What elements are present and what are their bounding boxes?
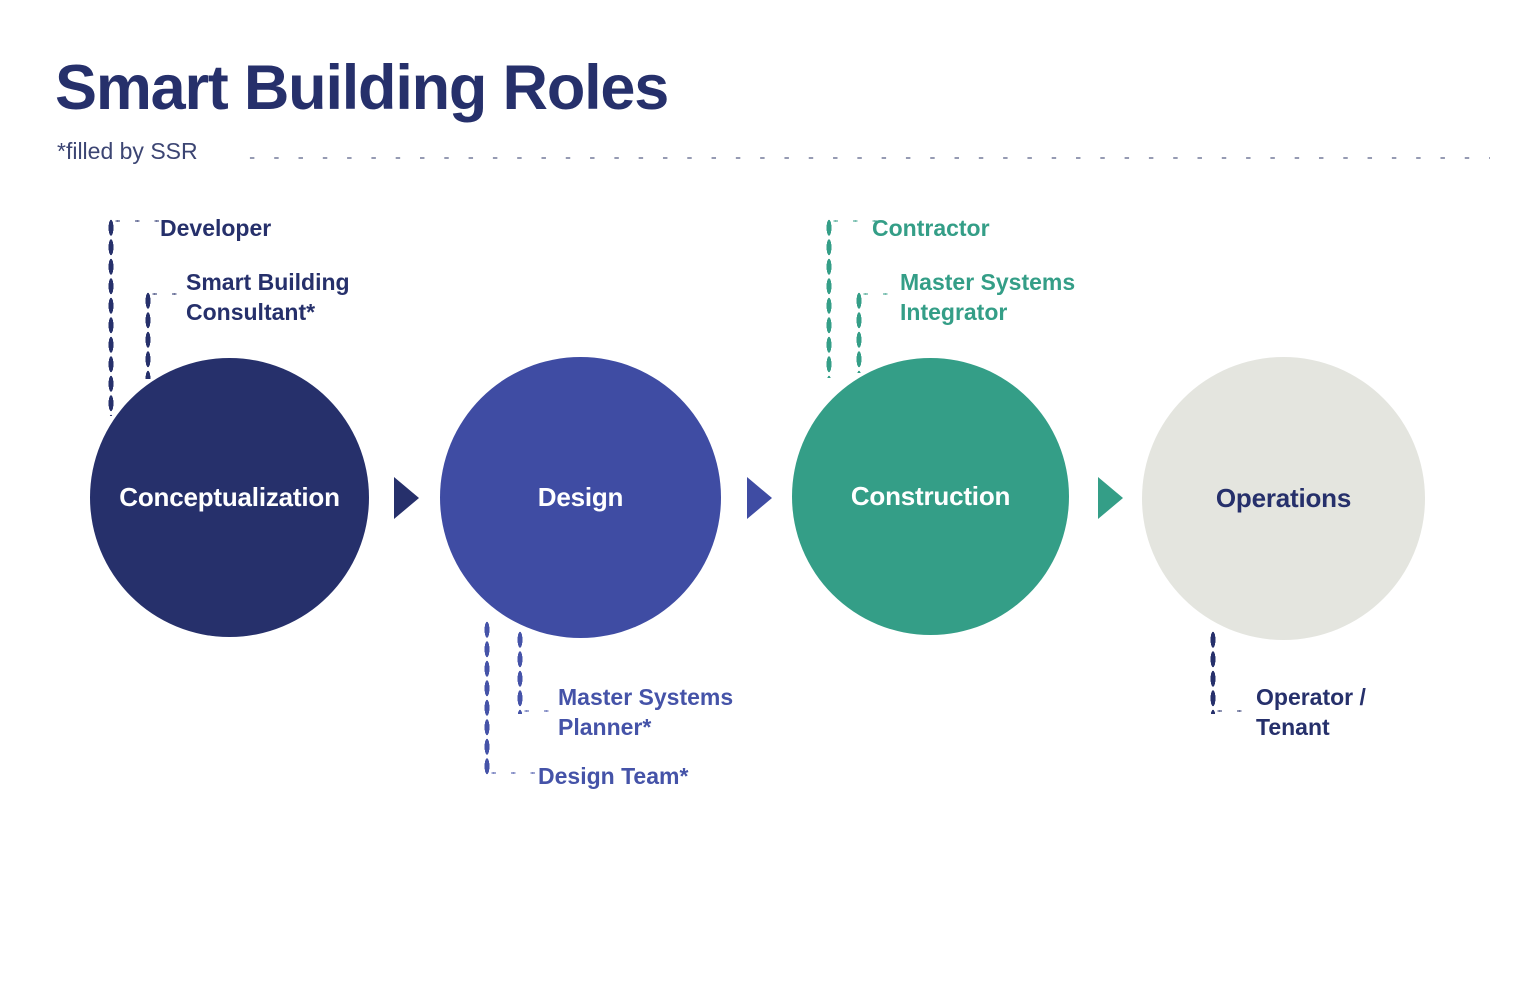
role-label-operator-tenant: Operator / Tenant: [1256, 682, 1366, 743]
phase-circle-conceptualization[interactable]: Conceptualization: [90, 358, 369, 637]
role-label-master-systems-planner: Master Systems Planner*: [558, 682, 733, 743]
leader-line-msi-vertical: [856, 291, 862, 373]
leader-line-design-team-horizontal: [484, 770, 536, 776]
phase-label-design: Design: [538, 482, 623, 513]
phase-circle-operations[interactable]: Operations: [1142, 357, 1425, 640]
leader-line-sb-consultant-horizontal: [145, 291, 187, 297]
leader-line-operator-tenant-horizontal: [1210, 708, 1252, 714]
phase-label-construction: Construction: [851, 481, 1010, 512]
leader-line-msp-vertical: [517, 630, 523, 714]
leader-line-developer-vertical: [108, 218, 114, 416]
leader-line-contractor-vertical: [826, 218, 832, 378]
flow-arrow-conceptualization-to-design: [394, 477, 419, 519]
phase-circle-design[interactable]: Design: [440, 357, 721, 638]
infographic-canvas: Smart Building Roles *filled by SSR Deve…: [0, 0, 1536, 994]
leader-line-msi-horizontal: [856, 291, 898, 297]
phase-label-operations: Operations: [1216, 483, 1351, 514]
flow-arrow-design-to-construction: [747, 477, 772, 519]
footnote-legend: *filled by SSR: [57, 140, 198, 163]
leader-line-operator-tenant-vertical: [1210, 630, 1216, 714]
leader-line-design-team-vertical: [484, 620, 490, 776]
role-label-contractor: Contractor: [872, 213, 990, 243]
leader-line-developer-horizontal: [108, 218, 160, 224]
leader-line-contractor-horizontal: [826, 218, 878, 224]
role-label-master-systems-integrator: Master Systems Integrator: [900, 267, 1075, 328]
page-title: Smart Building Roles: [55, 57, 668, 120]
phase-label-conceptualization: Conceptualization: [119, 482, 340, 513]
role-label-smart-building-consultant: Smart Building Consultant*: [186, 267, 350, 328]
leader-line-sb-consultant-vertical: [145, 291, 151, 379]
phase-circle-construction[interactable]: Construction: [792, 358, 1069, 635]
role-label-developer: Developer: [160, 213, 271, 243]
header-dotted-rule: [240, 155, 1490, 161]
flow-arrow-construction-to-operations: [1098, 477, 1123, 519]
role-label-design-team: Design Team*: [538, 761, 688, 791]
leader-line-msp-horizontal: [517, 708, 559, 714]
